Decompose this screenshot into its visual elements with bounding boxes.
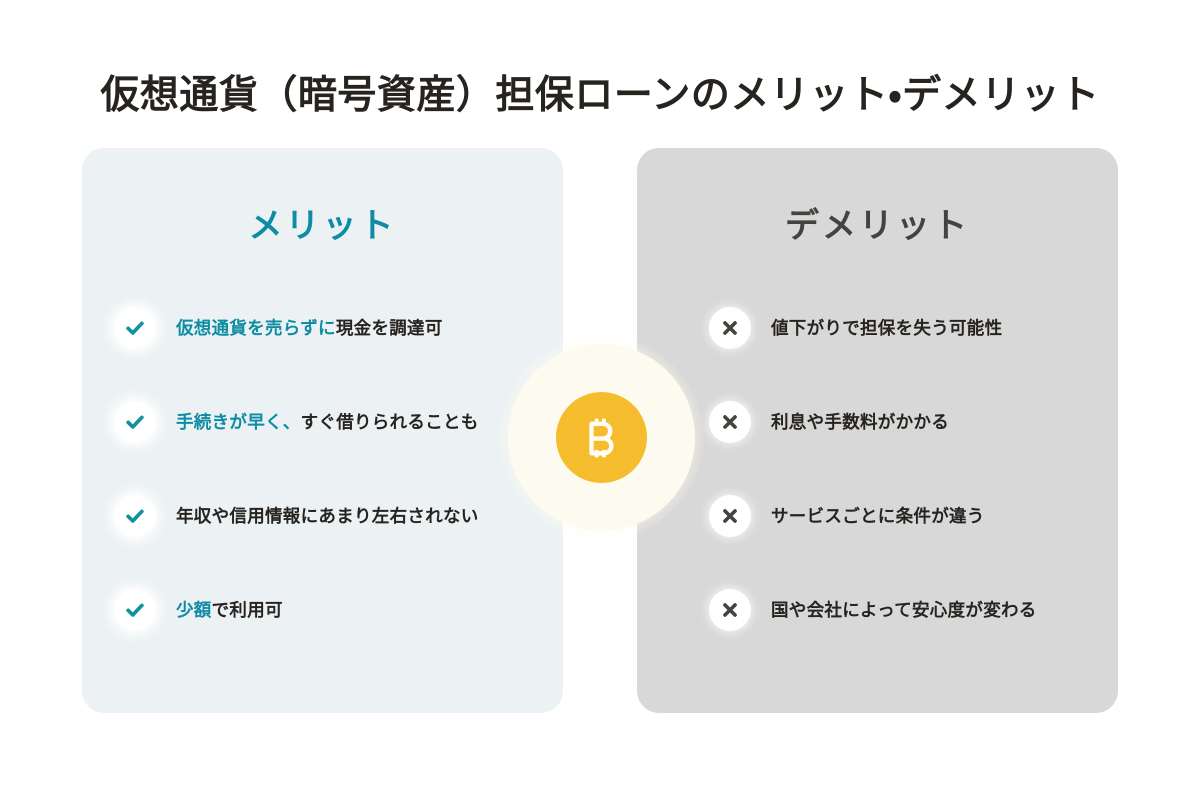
list-item: 年収や信用情報にあまり左右されない (82, 494, 563, 538)
check-icon (114, 401, 156, 443)
page-title: 仮想通貨（暗号資産）担保ローンのメリット・デメリット (0, 70, 1200, 122)
list-item-rest: すぐ借りられることも (301, 412, 479, 432)
list-item-rest: サービスごとに条件が違う (771, 506, 985, 526)
list-item-rest: で利用可 (212, 600, 283, 620)
list-item: 少額で利用可 (82, 588, 563, 632)
list-item-rest: 年収や信用情報にあまり左右されない (176, 506, 479, 526)
list-item-rest: 現金を調達可 (336, 318, 443, 338)
cross-icon (709, 307, 751, 349)
list-item-highlight: 手続きが早く、 (176, 412, 301, 432)
list-item: 国や会社によって安心度が変わる (637, 588, 1118, 632)
cross-icon (709, 495, 751, 537)
bitcoin-icon (556, 392, 647, 483)
list-item-label: サービスごとに条件が違う (771, 503, 985, 529)
list-item: 値下がりで担保を失う可能性 (637, 306, 1118, 350)
list-item-highlight: 少額 (176, 600, 212, 620)
list-item-label: 年収や信用情報にあまり左右されない (176, 503, 479, 529)
cross-icon (709, 401, 751, 443)
demerit-panel-heading: デメリット (637, 204, 1118, 248)
list-item-rest: 国や会社によって安心度が変わる (771, 600, 1037, 620)
list-item-label: 少額で利用可 (176, 597, 283, 623)
list-item-label: 利息や手数料がかかる (771, 409, 949, 435)
list-item-highlight: 仮想通貨を売らずに (176, 318, 336, 338)
list-item-label: 値下がりで担保を失う可能性 (771, 315, 1002, 341)
list-item: 利息や手数料がかかる (637, 400, 1118, 444)
cross-icon (709, 589, 751, 631)
list-item: 手続きが早く、すぐ借りられることも (82, 400, 563, 444)
check-icon (114, 589, 156, 631)
check-icon (114, 307, 156, 349)
list-item-rest: 利息や手数料がかかる (771, 412, 949, 432)
merit-item-list: 仮想通貨を売らずに現金を調達可 手続きが早く、すぐ借りられることも (82, 306, 563, 632)
demerit-panel: デメリット 値下がりで担保を失う可能性 (637, 148, 1118, 713)
merit-panel-heading: メリット (82, 204, 563, 248)
infographic-canvas: 仮想通貨（暗号資産）担保ローンのメリット・デメリット メリット 仮想通貨を売らず… (0, 0, 1200, 794)
demerit-item-list: 値下がりで担保を失う可能性 利息や手数料がかかる (637, 306, 1118, 632)
list-item: 仮想通貨を売らずに現金を調達可 (82, 306, 563, 350)
list-item-rest: 値下がりで担保を失う可能性 (771, 318, 1002, 338)
list-item-label: 国や会社によって安心度が変わる (771, 597, 1037, 623)
merit-panel: メリット 仮想通貨を売らずに現金を調達可 (82, 148, 563, 713)
list-item: サービスごとに条件が違う (637, 494, 1118, 538)
list-item-label: 仮想通貨を売らずに現金を調達可 (176, 315, 443, 341)
list-item-label: 手続きが早く、すぐ借りられることも (176, 409, 479, 435)
check-icon (114, 495, 156, 537)
